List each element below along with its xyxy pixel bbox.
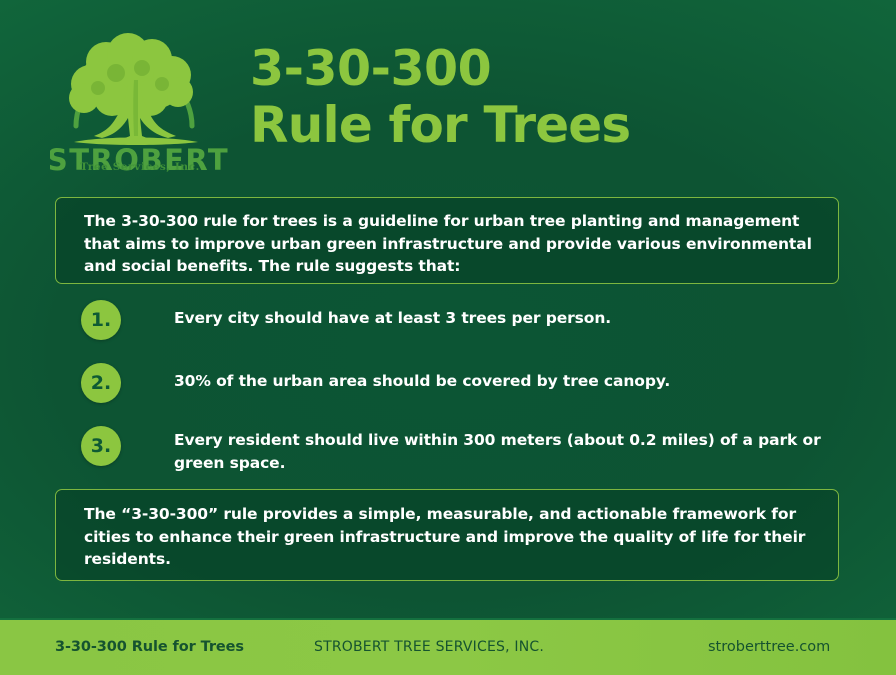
rules-list: 1. Every city should have at least 3 tre… — [55, 298, 845, 475]
rule-number-badge: 3. — [81, 426, 121, 466]
conclusion-panel: The “3-30-300” rule provides a simple, m… — [55, 489, 839, 581]
logo-tagline: Tree Services, Inc. — [50, 161, 230, 173]
intro-panel: The 3-30-300 rule for trees is a guideli… — [55, 197, 839, 284]
title-line-2: Rule for Trees — [250, 97, 850, 154]
brand-logo: STROBERT Tree Services, Inc. — [50, 18, 230, 178]
rule-text: Every resident should live within 300 me… — [174, 429, 822, 475]
header: STROBERT Tree Services, Inc. 3-30-300 Ru… — [0, 0, 896, 190]
intro-text: The 3-30-300 rule for trees is a guideli… — [84, 210, 816, 278]
list-item: 2. 30% of the urban area should be cover… — [55, 361, 845, 411]
page-title: 3-30-300 Rule for Trees — [250, 40, 850, 154]
tree-logo-icon: STROBERT — [50, 18, 230, 178]
list-item: 1. Every city should have at least 3 tre… — [55, 298, 845, 348]
footer-website[interactable]: stroberttree.com — [708, 639, 830, 655]
rule-text: Every city should have at least 3 trees … — [174, 307, 611, 330]
conclusion-text: The “3-30-300” rule provides a simple, m… — [84, 503, 816, 571]
footer-company: STROBERT TREE SERVICES, INC. — [314, 639, 544, 655]
footer-title: 3-30-300 Rule for Trees — [55, 639, 244, 655]
rule-number-badge: 2. — [81, 363, 121, 403]
list-item: 3. Every resident should live within 300… — [55, 424, 845, 475]
title-line-1: 3-30-300 — [250, 40, 850, 97]
infographic-poster: STROBERT Tree Services, Inc. 3-30-300 Ru… — [0, 0, 896, 675]
footer-bar: 3-30-300 Rule for Trees STROBERT TREE SE… — [0, 620, 896, 675]
rule-text: 30% of the urban area should be covered … — [174, 370, 670, 393]
rule-number-badge: 1. — [81, 300, 121, 340]
